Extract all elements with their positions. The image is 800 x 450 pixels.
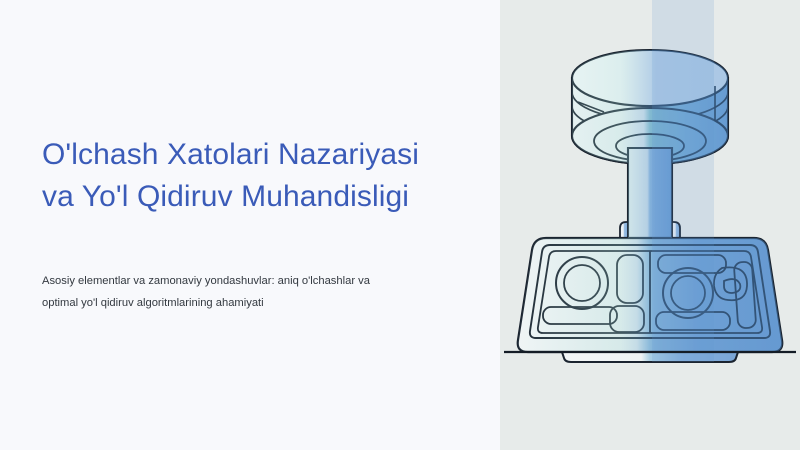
illustration-artwork bbox=[500, 0, 800, 450]
title-block: O'lchash Xatolari Nazariyasi va Yo'l Qid… bbox=[42, 134, 472, 218]
illustration-panel bbox=[500, 0, 800, 450]
page-title: O'lchash Xatolari Nazariyasi va Yo'l Qid… bbox=[42, 134, 472, 218]
measuring-scale-illustration bbox=[500, 0, 800, 450]
gradient-wash bbox=[500, 0, 800, 450]
subtitle-block: Asosiy elementlar va zamonaviy yondashuv… bbox=[42, 270, 444, 314]
slide-root: O'lchash Xatolari Nazariyasi va Yo'l Qid… bbox=[0, 0, 800, 450]
title-panel: O'lchash Xatolari Nazariyasi va Yo'l Qid… bbox=[0, 0, 500, 450]
page-subtitle: Asosiy elementlar va zamonaviy yondashuv… bbox=[42, 270, 444, 314]
highlight-band bbox=[652, 0, 714, 362]
